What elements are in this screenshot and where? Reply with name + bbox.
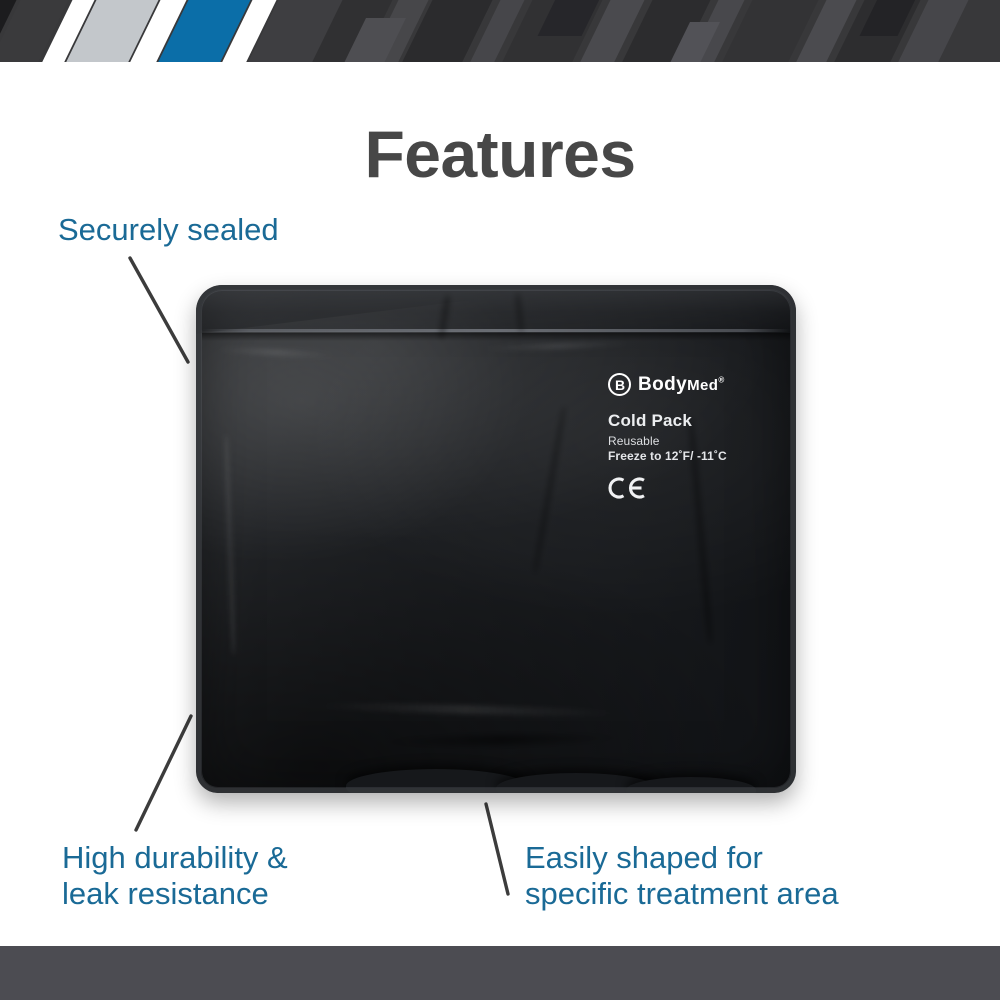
ce-mark-icon — [608, 477, 778, 499]
product-freeze-temp-text: Freeze to 12˚F/ -11˚C — [608, 449, 778, 463]
callout-easily-shaped: Easily shaped for specific treatment are… — [525, 840, 839, 912]
welded-rim-edge — [196, 285, 796, 793]
product-name-text: Cold Pack — [608, 411, 778, 431]
brand-name-med: Med — [687, 377, 718, 394]
brand-name: BodyMed® — [638, 374, 725, 396]
registered-trademark-icon: ® — [718, 375, 724, 384]
brand-lockup: B BodyMed® — [608, 373, 778, 396]
brand-name-body: Body — [638, 374, 687, 395]
bodymed-logo-icon: B — [608, 373, 631, 396]
product-reusable-text: Reusable — [608, 434, 778, 448]
callout-securely-sealed: Securely sealed — [58, 212, 279, 248]
infographic-page: Features Securely sealed High durability… — [0, 0, 1000, 1000]
product-image: B BodyMed® Cold Pack Reusable Freeze to … — [188, 278, 806, 800]
ce-mark-glyph — [608, 477, 648, 499]
product-label: B BodyMed® Cold Pack Reusable Freeze to … — [608, 373, 778, 499]
bottom-bar — [0, 946, 1000, 1000]
callout-high-durability: High durability & leak resistance — [62, 840, 288, 912]
cold-pack-body: B BodyMed® Cold Pack Reusable Freeze to … — [196, 285, 796, 793]
page-title: Features — [0, 116, 1000, 192]
banner-bottom-angle-cut — [0, 62, 1000, 80]
header-banner — [0, 0, 1000, 80]
logo-letter: B — [615, 378, 624, 392]
